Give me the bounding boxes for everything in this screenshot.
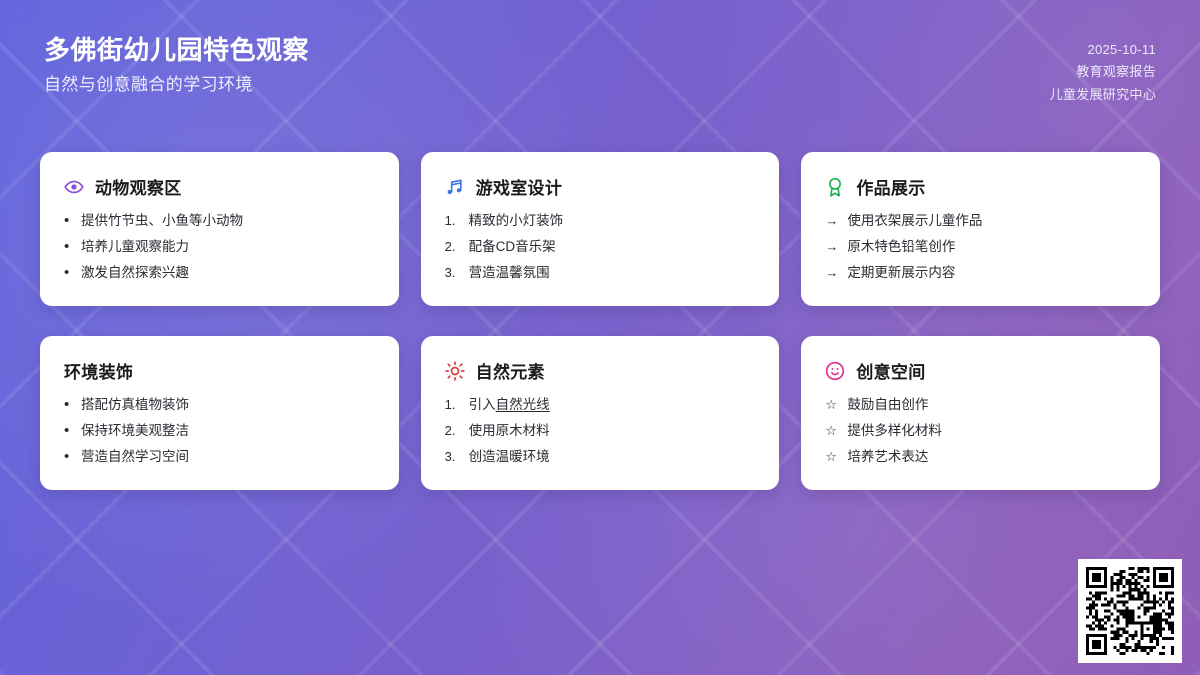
slide-root: 多佛街幼儿园特色观察 自然与创意融合的学习环境 2025-10-11 教育观察报… bbox=[0, 0, 1200, 675]
list-marker: • bbox=[64, 423, 73, 438]
card-list: 1.引入自然光线2.使用原木材料3.创造温暖环境 bbox=[445, 397, 756, 466]
list-marker: 2. bbox=[445, 239, 461, 255]
sun-icon bbox=[445, 361, 465, 381]
list-item: 3.创造温暖环境 bbox=[445, 449, 756, 466]
eye-icon bbox=[64, 177, 84, 197]
list-item-text: 使用衣架展示儿童作品 bbox=[847, 213, 982, 230]
card-title: 作品展示 bbox=[856, 174, 925, 199]
list-item: •培养儿童观察能力 bbox=[64, 239, 375, 256]
card-title: 环境装饰 bbox=[64, 358, 133, 383]
list-item: •激发自然探索兴趣 bbox=[64, 265, 375, 282]
list-item: 3.营造温馨氛围 bbox=[445, 265, 756, 282]
list-item-text-prefix: 引入 bbox=[469, 397, 496, 412]
header-meta: 2025-10-11 教育观察报告 儿童发展研究中心 bbox=[1050, 36, 1156, 103]
inline-link[interactable]: 自然光线 bbox=[496, 397, 550, 412]
list-item: →原木特色铅笔创作 bbox=[825, 239, 1136, 256]
card-header: 自然元素 bbox=[445, 358, 756, 383]
card-list: 1.精致的小灯装饰2.配备CD音乐架3.营造温馨氛围 bbox=[445, 213, 756, 282]
content-card: 作品展示→使用衣架展示儿童作品→原木特色铅笔创作→定期更新展示内容 bbox=[801, 152, 1160, 306]
list-item-text: 创造温暖环境 bbox=[469, 449, 550, 466]
list-item: •搭配仿真植物装饰 bbox=[64, 397, 375, 414]
list-item-text: 精致的小灯装饰 bbox=[469, 213, 564, 230]
cards-grid: 动物观察区•提供竹节虫、小鱼等小动物•培养儿童观察能力•激发自然探索兴趣 游戏室… bbox=[40, 152, 1160, 490]
list-marker: ☆ bbox=[825, 423, 839, 439]
music-note-icon bbox=[445, 177, 465, 197]
list-item-text: 鼓励自由创作 bbox=[847, 397, 928, 414]
list-item-text: 原木特色铅笔创作 bbox=[847, 239, 955, 256]
card-header: 创意空间 bbox=[825, 358, 1136, 383]
list-marker: → bbox=[825, 213, 839, 229]
list-item: ☆鼓励自由创作 bbox=[825, 397, 1136, 414]
card-title: 创意空间 bbox=[856, 358, 925, 383]
card-list: •提供竹节虫、小鱼等小动物•培养儿童观察能力•激发自然探索兴趣 bbox=[64, 213, 375, 282]
list-marker: • bbox=[64, 265, 73, 280]
slide-header: 多佛街幼儿园特色观察 自然与创意融合的学习环境 2025-10-11 教育观察报… bbox=[0, 0, 1200, 132]
meta-organization: 儿童发展研究中心 bbox=[1050, 87, 1156, 103]
list-item-text: 营造自然学习空间 bbox=[81, 449, 189, 466]
list-item: ☆培养艺术表达 bbox=[825, 449, 1136, 466]
card-title: 游戏室设计 bbox=[476, 174, 563, 199]
list-item-text: 保持环境美观整洁 bbox=[81, 423, 189, 440]
list-marker: • bbox=[64, 213, 73, 228]
card-header: 环境装饰 bbox=[64, 358, 375, 383]
list-item: •提供竹节虫、小鱼等小动物 bbox=[64, 213, 375, 230]
list-marker: ☆ bbox=[825, 449, 839, 465]
list-item-text: 使用原木材料 bbox=[469, 423, 550, 440]
card-list: •搭配仿真植物装饰•保持环境美观整洁•营造自然学习空间 bbox=[64, 397, 375, 466]
list-item: →使用衣架展示儿童作品 bbox=[825, 213, 1136, 230]
list-marker: • bbox=[64, 397, 73, 412]
content-card: 自然元素1.引入自然光线2.使用原木材料3.创造温暖环境 bbox=[421, 336, 780, 490]
list-item: 1.引入自然光线 bbox=[445, 397, 756, 414]
list-marker: → bbox=[825, 239, 839, 255]
card-header: 作品展示 bbox=[825, 174, 1136, 199]
list-item-text: 定期更新展示内容 bbox=[847, 265, 955, 282]
card-title: 自然元素 bbox=[476, 358, 545, 383]
qr-code[interactable] bbox=[1078, 559, 1182, 663]
list-item-text: 引入自然光线 bbox=[469, 397, 550, 414]
list-marker: • bbox=[64, 449, 73, 464]
list-item: 2.使用原木材料 bbox=[445, 423, 756, 440]
smiley-icon bbox=[825, 361, 845, 381]
meta-report-type: 教育观察报告 bbox=[1076, 64, 1156, 80]
list-item: 2.配备CD音乐架 bbox=[445, 239, 756, 256]
list-item: →定期更新展示内容 bbox=[825, 265, 1136, 282]
list-item: •保持环境美观整洁 bbox=[64, 423, 375, 440]
qr-code-image bbox=[1086, 567, 1174, 655]
list-marker: 2. bbox=[445, 423, 461, 439]
list-marker: 3. bbox=[445, 265, 461, 281]
list-item-text: 培养艺术表达 bbox=[847, 449, 928, 466]
content-card: 动物观察区•提供竹节虫、小鱼等小动物•培养儿童观察能力•激发自然探索兴趣 bbox=[40, 152, 399, 306]
list-item-text: 提供竹节虫、小鱼等小动物 bbox=[81, 213, 243, 230]
content-card: 环境装饰•搭配仿真植物装饰•保持环境美观整洁•营造自然学习空间 bbox=[40, 336, 399, 490]
meta-date: 2025-10-11 bbox=[1087, 42, 1156, 58]
list-item-text: 提供多样化材料 bbox=[847, 423, 942, 440]
content-card: 游戏室设计1.精致的小灯装饰2.配备CD音乐架3.营造温馨氛围 bbox=[421, 152, 780, 306]
list-item-text: 营造温馨氛围 bbox=[469, 265, 550, 282]
page-subtitle: 自然与创意融合的学习环境 bbox=[44, 75, 309, 95]
list-item-text: 配备CD音乐架 bbox=[469, 239, 556, 256]
list-marker: 1. bbox=[445, 397, 461, 413]
list-item: 1.精致的小灯装饰 bbox=[445, 213, 756, 230]
list-marker: 1. bbox=[445, 213, 461, 229]
list-item-text: 激发自然探索兴趣 bbox=[81, 265, 189, 282]
list-marker: 3. bbox=[445, 449, 461, 465]
list-marker: → bbox=[825, 265, 839, 281]
card-header: 游戏室设计 bbox=[445, 174, 756, 199]
award-icon bbox=[825, 177, 845, 197]
card-list: ☆鼓励自由创作☆提供多样化材料☆培养艺术表达 bbox=[825, 397, 1136, 466]
card-title: 动物观察区 bbox=[95, 174, 182, 199]
title-block: 多佛街幼儿园特色观察 自然与创意融合的学习环境 bbox=[44, 36, 309, 95]
card-header: 动物观察区 bbox=[64, 174, 375, 199]
list-item-text: 培养儿童观察能力 bbox=[81, 239, 189, 256]
page-title: 多佛街幼儿园特色观察 bbox=[44, 36, 309, 66]
list-marker: ☆ bbox=[825, 397, 839, 413]
list-item: ☆提供多样化材料 bbox=[825, 423, 1136, 440]
list-item: •营造自然学习空间 bbox=[64, 449, 375, 466]
list-item-text: 搭配仿真植物装饰 bbox=[81, 397, 189, 414]
content-card: 创意空间☆鼓励自由创作☆提供多样化材料☆培养艺术表达 bbox=[801, 336, 1160, 490]
card-list: →使用衣架展示儿童作品→原木特色铅笔创作→定期更新展示内容 bbox=[825, 213, 1136, 282]
list-marker: • bbox=[64, 239, 73, 254]
